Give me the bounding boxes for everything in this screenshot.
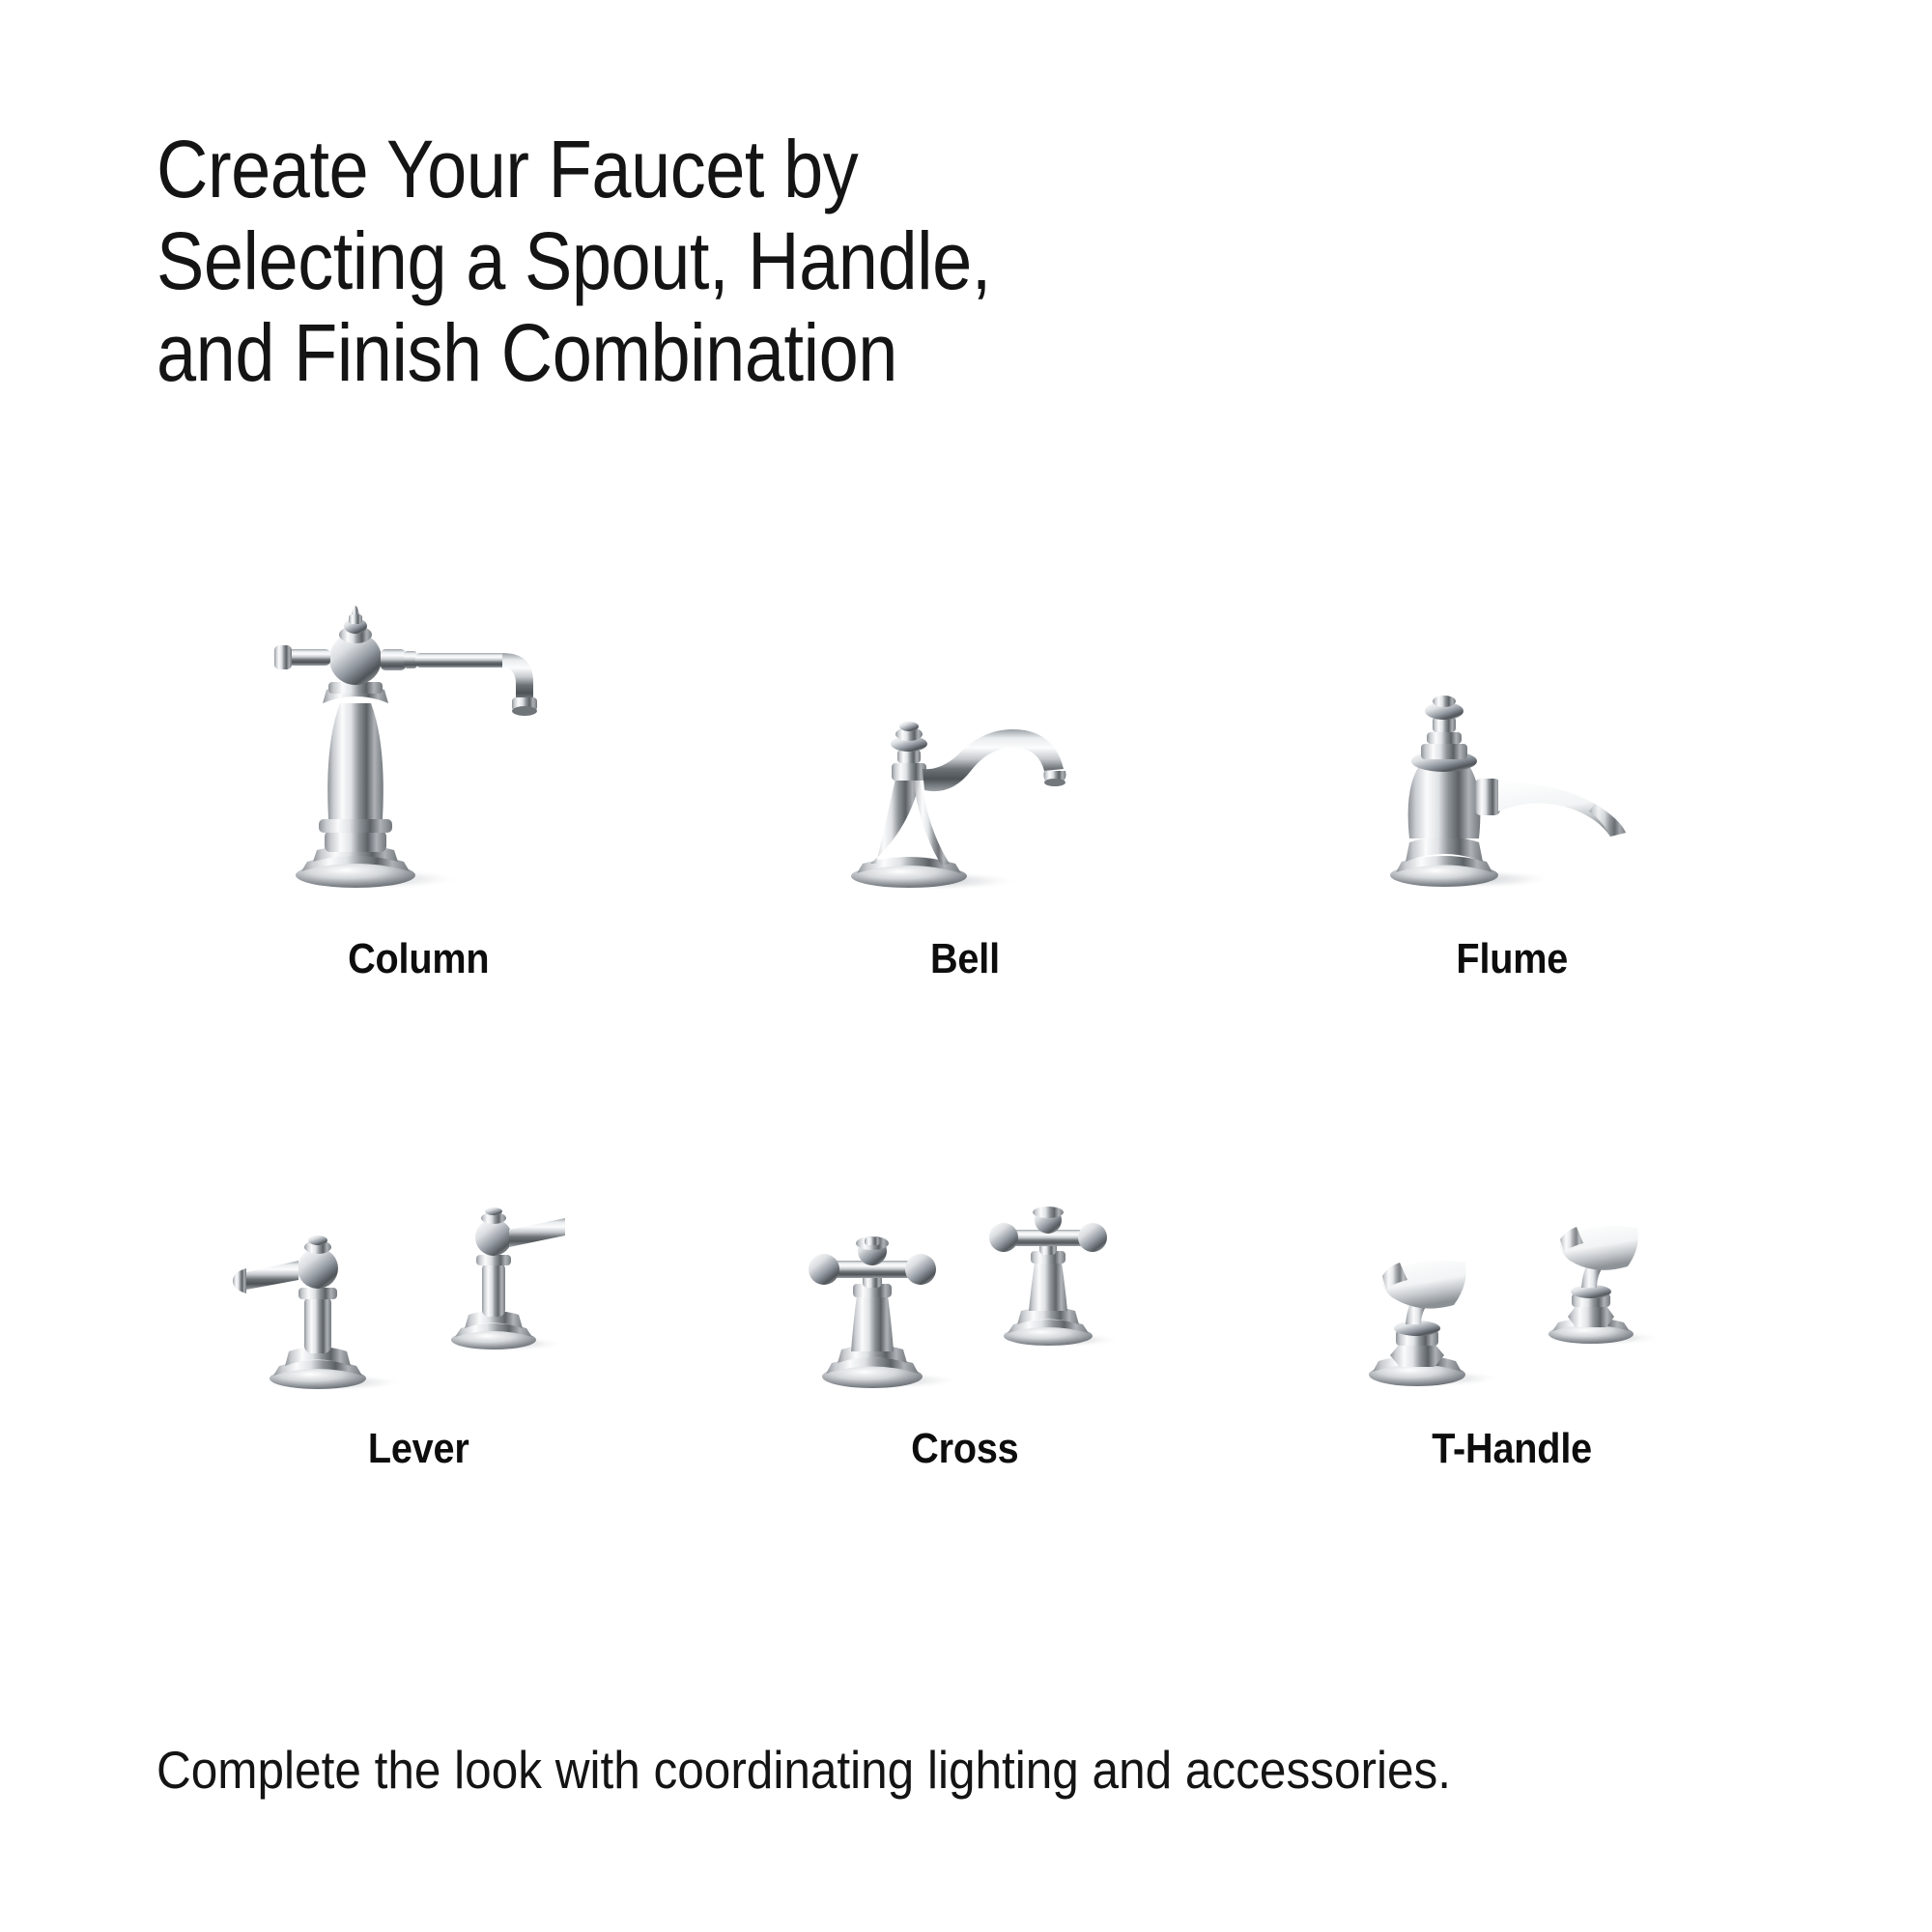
spout-option-flume[interactable]: Flume xyxy=(1238,580,1785,983)
footer-note: Complete the look with coordinating ligh… xyxy=(156,1739,1451,1801)
t-handle-figure xyxy=(1238,1145,1785,1396)
bell-spout-figure xyxy=(692,580,1238,898)
bell-spout-icon xyxy=(820,589,1110,898)
cross-handle-icon xyxy=(772,1154,1158,1396)
page-title: Create Your Faucet by Selecting a Spout,… xyxy=(156,124,1509,399)
lever-handle-figure xyxy=(145,1145,692,1396)
page-title-line-3: and Finish Combination xyxy=(156,307,1347,399)
handle-option-cross[interactable]: Cross xyxy=(692,1145,1238,1473)
handle-options: Lever xyxy=(145,1145,1787,1473)
spout-option-label: Flume xyxy=(1456,935,1568,983)
handle-option-label: Lever xyxy=(368,1425,469,1473)
spout-option-label: Bell xyxy=(930,935,1000,983)
cross-handle-figure xyxy=(692,1145,1238,1396)
flume-spout-figure xyxy=(1238,580,1785,898)
handle-option-t-handle[interactable]: T-Handle xyxy=(1238,1145,1785,1473)
column-spout-icon xyxy=(259,589,578,898)
page-title-line-2: Selecting a Spout, Handle, xyxy=(156,215,1347,307)
spout-option-label: Column xyxy=(348,935,489,983)
t-handle-icon xyxy=(1319,1154,1705,1396)
handle-option-label: T-Handle xyxy=(1432,1425,1592,1473)
page-title-line-1: Create Your Faucet by xyxy=(156,124,1347,215)
handle-option-label: Cross xyxy=(911,1425,1018,1473)
spout-option-bell[interactable]: Bell xyxy=(692,580,1238,983)
spout-option-column[interactable]: Column xyxy=(145,580,692,983)
column-spout-figure xyxy=(145,580,692,898)
lever-handle-icon xyxy=(225,1154,611,1396)
product-selector-page: Create Your Faucet by Selecting a Spout,… xyxy=(0,0,1932,1932)
flume-spout-icon xyxy=(1367,589,1657,898)
spout-options: Column xyxy=(145,580,1787,983)
handle-option-lever[interactable]: Lever xyxy=(145,1145,692,1473)
